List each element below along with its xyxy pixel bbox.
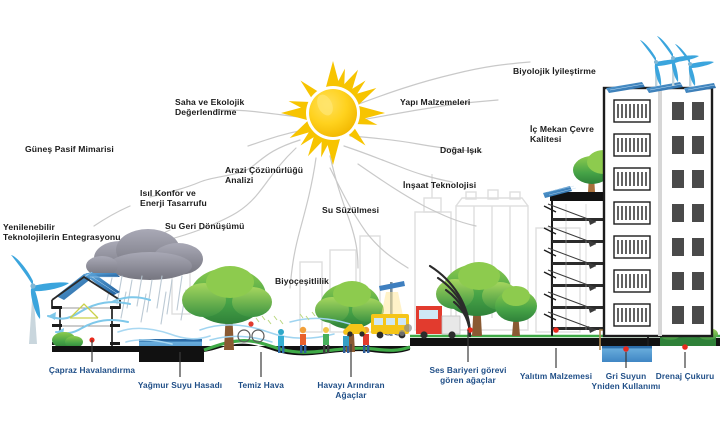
- infographic-canvas: Güneş Pasif MimarisiSaha ve Ekolojik Değ…: [0, 0, 720, 427]
- concept-label-saha-ve-ekolojik-degerlendirme: Saha ve Ekolojik Değerlendirme: [175, 97, 244, 117]
- feature-label-yalitim-malzemesi: Yalıtım Malzemesi: [520, 372, 592, 382]
- feature-label-temiz-hava: Temiz Hava: [238, 381, 284, 391]
- solar-panel-icon: [56, 272, 120, 300]
- concept-label-isil-konfor-ve-enerji-tasarrufu: Isıl Konfor ve Enerji Tasarrufu: [140, 188, 207, 208]
- concept-label-arazi-cozunurlugu-analizi: Arazi Çözünürlüğü Analizi: [225, 165, 303, 185]
- feature-label-capraz-havalandirma: Çapraz Havalandırma: [49, 366, 135, 376]
- louvered-windows: [614, 100, 650, 326]
- feature-label-havayi-arindiran-agaclar: Havayı Arındıran Ağaçlar: [317, 381, 384, 401]
- concept-label-insaat-teknolojisi: İnşaat Teknolojisi: [403, 180, 476, 190]
- marker-dot: [623, 346, 629, 352]
- concept-label-biyolojik-iyilestirme: Biyolojik İyileştirme: [513, 66, 596, 76]
- feature-label-gri-suyun-yniden-kullanimi: Gri Suyun Yniden Kullanımı: [592, 372, 661, 392]
- feature-label-ses-bariyeri-goren-agaclar: Ses Bariyeri görevi gören ağaçlar: [429, 366, 506, 386]
- high-rise-building: [604, 82, 716, 336]
- concept-label-gunes-pasif-mimarisi: Güneş Pasif Mimarisi: [25, 144, 114, 154]
- concept-label-yenilenebilir-teknolojilerin-entegrasyonu: Yenilenebilir Teknolojilerin Entegrasyon…: [3, 222, 121, 242]
- seed-specks: [256, 312, 315, 324]
- feature-label-yagmur-suyu-hasadi: Yağmur Suyu Hasadı: [138, 381, 222, 391]
- marker-dot: [682, 344, 688, 350]
- concept-label-yapi-malzemeleri: Yapı Malzemeleri: [400, 97, 470, 107]
- marker-dot: [553, 327, 559, 333]
- concept-label-biyocesitlilik: Biyoçeşitlilik: [275, 276, 329, 286]
- daylight-arrows: [548, 204, 596, 330]
- roof-wind-turbines: [640, 36, 714, 86]
- concept-label-su-geri-donusumu: Su Geri Dönüşümü: [165, 221, 244, 231]
- concept-label-su-suzulmesi: Su Süzülmesi: [322, 205, 379, 215]
- feature-label-drenaj-cukuru: Drenaj Çukuru: [656, 372, 714, 382]
- greywater-tank: [602, 346, 652, 362]
- concept-label-ic-mekan-cevre-kalitesi: İç Mekan Çevre Kalitesi: [530, 124, 594, 144]
- concept-label-dogal-isik: Doğal Işık: [440, 145, 482, 155]
